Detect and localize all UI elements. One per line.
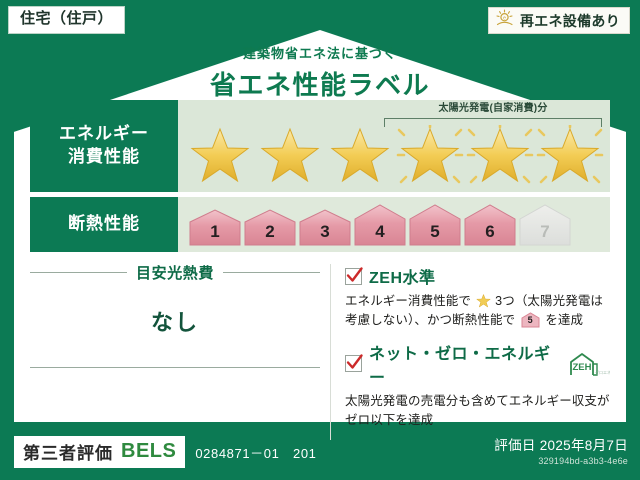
heading-rule-left [30,272,127,273]
insulation-grade-1: 1 [188,223,242,247]
checkbox-zeh-level[interactable] [345,268,362,285]
criterion-net-zero-energy: ネット・ゼロ・エネルギー ZEH ゼロエネ 太陽光発電の売電分も含めてエネルギー… [345,340,610,431]
star-5-solar [466,125,534,187]
energy-label-root: 住宅（住戸） e 再エネ設備あり 建築物省エネ法に基づく 省エネ性能ラベル [0,0,640,480]
star-6-solar [536,125,604,187]
energy-performance-row: エネルギー 消費性能 太陽光発電(自家消費)分 [30,100,610,192]
bels-logo: BELS [121,440,176,463]
bels-certification: 第三者評価 BELS 0284871－01 201 [14,436,317,468]
evaluation-info: 評価日 2025年8月7日 329194bd-a3b3-4e6e [494,434,628,466]
inline-house-grade: 5 [521,314,540,328]
document-hash: 329194bd-a3b3-4e6e [494,456,628,466]
criterion-zeh-level-title: ZEH水準 [369,264,436,288]
utility-cost-heading-label: 目安光熱費 [136,262,214,283]
renewable-energy-badge: e 再エネ設備あり [488,7,630,34]
insulation-grade-scale: 1 2 3 4 [188,197,604,252]
insulation-grade-7-value: 7 [540,223,549,247]
renewable-badge-label: 再エネ設備あり [520,11,620,31]
insulation-grade-6-value: 6 [485,223,494,247]
solar-annotation-label: 太陽光発電(自家消費)分 [382,99,604,114]
inline-house-icon: 5 [521,312,540,328]
insulation-grade-5-value: 5 [430,223,439,247]
insulation-performance-row: 断熱性能 1 2 3 [30,197,610,252]
page-title: 省エネ性能ラベル [0,65,640,102]
bels-plate: 第三者評価 BELS [14,436,185,468]
insulation-grade-4: 4 [353,223,407,247]
utility-cost-section: 目安光熱費 なし [30,262,330,440]
zeh-desc-part1: エネルギー消費性能で [345,294,471,308]
insulation-grade-3-value: 3 [320,223,329,247]
criterion-net-zero-energy-title: ネット・ゼロ・エネルギー [369,340,553,388]
insulation-grade-7: 7 [518,223,572,247]
criterion-zeh-level-desc: エネルギー消費性能で 3つ（太陽光発電は考慮しない）、かつ断熱性能で 5 を達成 [345,292,610,331]
svg-text:ゼロエネ: ゼロエネ [595,369,610,375]
lower-section: 目安光熱費 なし ZEH水準 [30,262,610,440]
utility-cost-value: なし [30,305,320,337]
criteria-section: ZEH水準 エネルギー消費性能で 3つ（太陽光発電は考慮しない）、かつ断熱性能で… [345,262,610,440]
evaluation-date: 評価日 2025年8月7日 [494,434,628,454]
section-divider [330,264,331,440]
criterion-net-zero-energy-head: ネット・ゼロ・エネルギー ZEH ゼロエネ [345,340,610,388]
evaluation-date-label: 評価日 [494,438,535,453]
star-1 [186,125,254,187]
evaluation-date-value: 2025年8月7日 [540,438,628,453]
star-rating [186,124,606,188]
svg-text:ZEH: ZEH [573,362,592,373]
check-icon [345,353,364,372]
criterion-zeh-level-head: ZEH水準 [345,264,610,288]
inline-star-icon [476,294,491,308]
header-subtitle: 建築物省エネ法に基づく [0,43,640,62]
svg-text:e: e [503,15,506,21]
insulation-grade-5: 5 [408,223,462,247]
utility-cost-rule [30,367,320,368]
category-tag: 住宅（住戸） [8,6,125,34]
star-2 [256,125,324,187]
label-footer: 第三者評価 BELS 0284871－01 201 評価日 2025年8月7日 … [0,426,640,480]
third-party-label: 第三者評価 [23,439,113,464]
zeh-desc-part3: を達成 [545,313,583,327]
insulation-grade-6: 6 [463,223,517,247]
insulation-grade-1-value: 1 [210,223,219,247]
insulation-grades-area: 1 2 3 4 [178,197,610,252]
insulation-grade-2-value: 2 [265,223,274,247]
zeh-logo-mark: ZEH ゼロエネ [564,351,610,377]
insulation-grade-2: 2 [243,223,297,247]
registration-number: 0284871－01 201 [195,443,316,462]
criterion-net-zero-energy-desc: 太陽光発電の売電分も含めてエネルギー収支がゼロ以下を達成 [345,392,610,431]
sun-icon: e [495,9,515,33]
star-4-solar [396,125,464,187]
label-header: 建築物省エネ法に基づく 省エネ性能ラベル [0,43,640,102]
insulation-grade-4-value: 4 [375,223,384,247]
star-3 [326,125,394,187]
insulation-grade-3: 3 [298,223,352,247]
insulation-performance-label: 断熱性能 [30,197,178,252]
label-content: エネルギー 消費性能 太陽光発電(自家消費)分 [30,100,610,440]
check-icon [345,266,364,285]
heading-rule-right [223,272,320,273]
energy-stars-area: 太陽光発電(自家消費)分 [178,100,610,192]
utility-cost-heading: 目安光熱費 [30,262,320,283]
criterion-zeh-level: ZEH水準 エネルギー消費性能で 3つ（太陽光発電は考慮しない）、かつ断熱性能で… [345,264,610,331]
checkbox-net-zero-energy[interactable] [345,355,362,372]
energy-performance-label: エネルギー 消費性能 [30,100,178,192]
solar-portion-annotation: 太陽光発電(自家消費)分 [382,100,604,126]
